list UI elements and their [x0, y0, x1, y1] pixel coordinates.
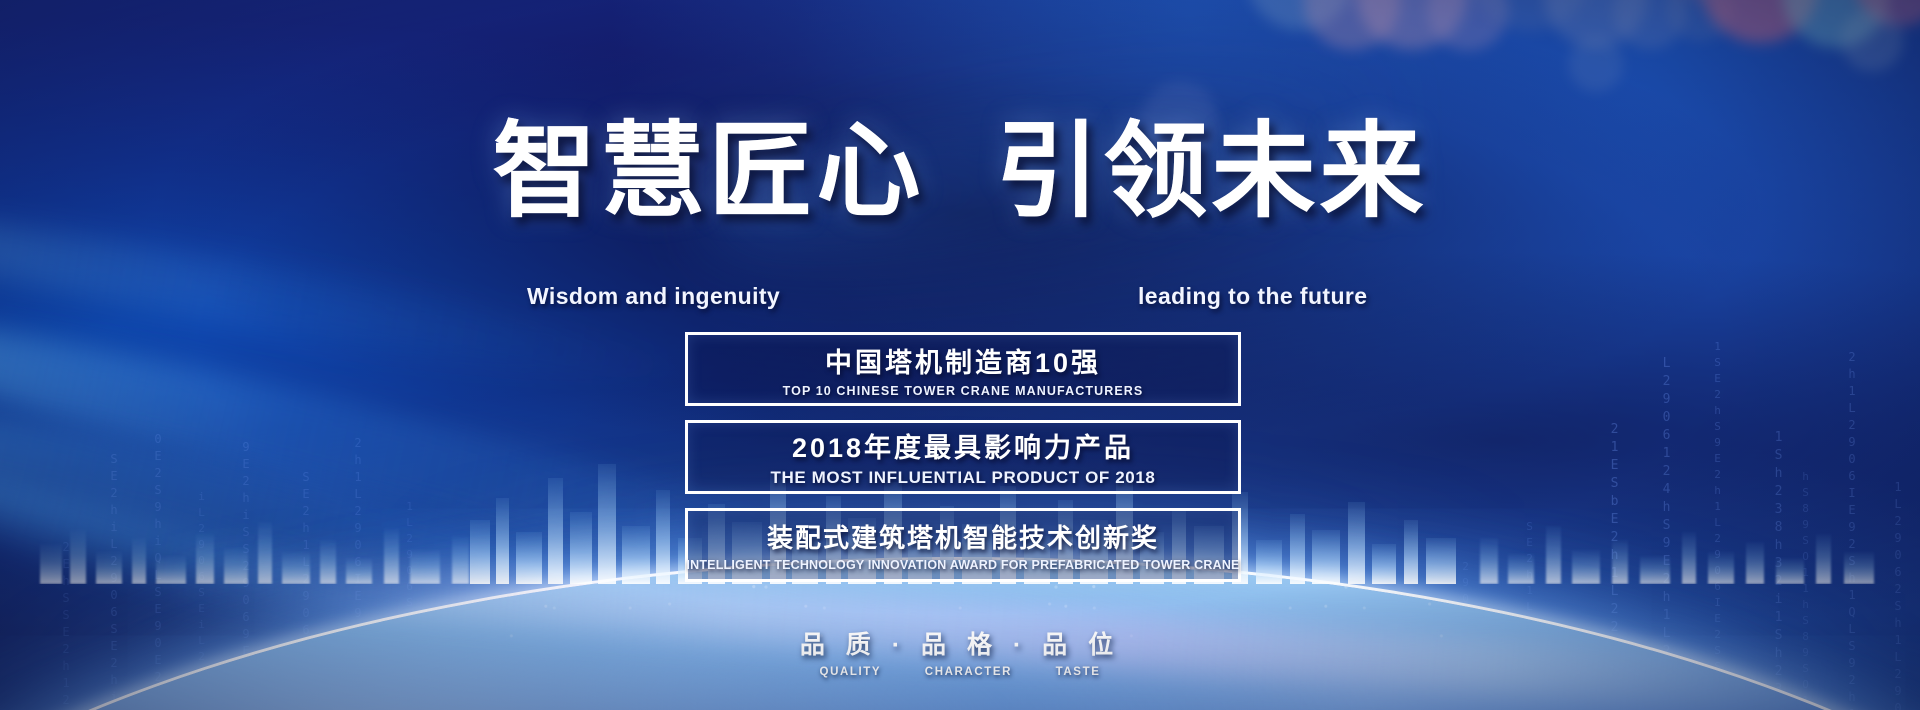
award-box-3: 装配式建筑塔机智能技术创新奖 INTELLIGENT TECHNOLOGY IN… — [685, 508, 1241, 582]
headline-right: 引领未来 — [995, 118, 1427, 226]
subtitle-right: leading to the future — [1138, 283, 1367, 310]
motto-en-character: CHARACTER — [925, 666, 1012, 678]
motto-en-quality: QUALITY — [820, 666, 882, 678]
motto-english: QUALITY CHARACTER TASTE — [0, 666, 1920, 678]
award-title-cn: 2018年度最具影响力产品 — [792, 426, 1134, 465]
headline-row: 智慧匠心 引领未来 — [0, 118, 1920, 226]
banner-content: 智慧匠心 引领未来 Wisdom and ingenuity leading t… — [0, 0, 1920, 710]
motto-en-taste: TASTE — [1056, 666, 1101, 678]
promo-banner: 21ESbE2h1L221ESbE2h1L2L2906124hS9E2h1L29… — [0, 0, 1920, 710]
award-list: 中国塔机制造商10强 TOP 10 CHINESE TOWER CRANE MA… — [685, 332, 1241, 596]
subtitle-left: Wisdom and ingenuity — [527, 283, 780, 310]
award-box-2: 2018年度最具影响力产品 THE MOST INFLUENTIAL PRODU… — [685, 420, 1241, 494]
award-box-1: 中国塔机制造商10强 TOP 10 CHINESE TOWER CRANE MA… — [685, 332, 1241, 406]
headline-left: 智慧匠心 — [493, 118, 925, 226]
award-title-en: INTELLIGENT TECHNOLOGY INNOVATION AWARD … — [686, 558, 1239, 572]
award-title-cn: 装配式建筑塔机智能技术创新奖 — [767, 518, 1159, 555]
award-title-cn: 中国塔机制造商10强 — [825, 341, 1101, 380]
motto-chinese: 品 质 · 品 格 · 品 位 — [0, 625, 1920, 661]
award-title-en: THE MOST INFLUENTIAL PRODUCT OF 2018 — [771, 468, 1156, 488]
award-title-en: TOP 10 CHINESE TOWER CRANE MANUFACTURERS — [783, 384, 1144, 398]
motto-block: 品 质 · 品 格 · 品 位 QUALITY CHARACTER TASTE — [0, 625, 1920, 678]
